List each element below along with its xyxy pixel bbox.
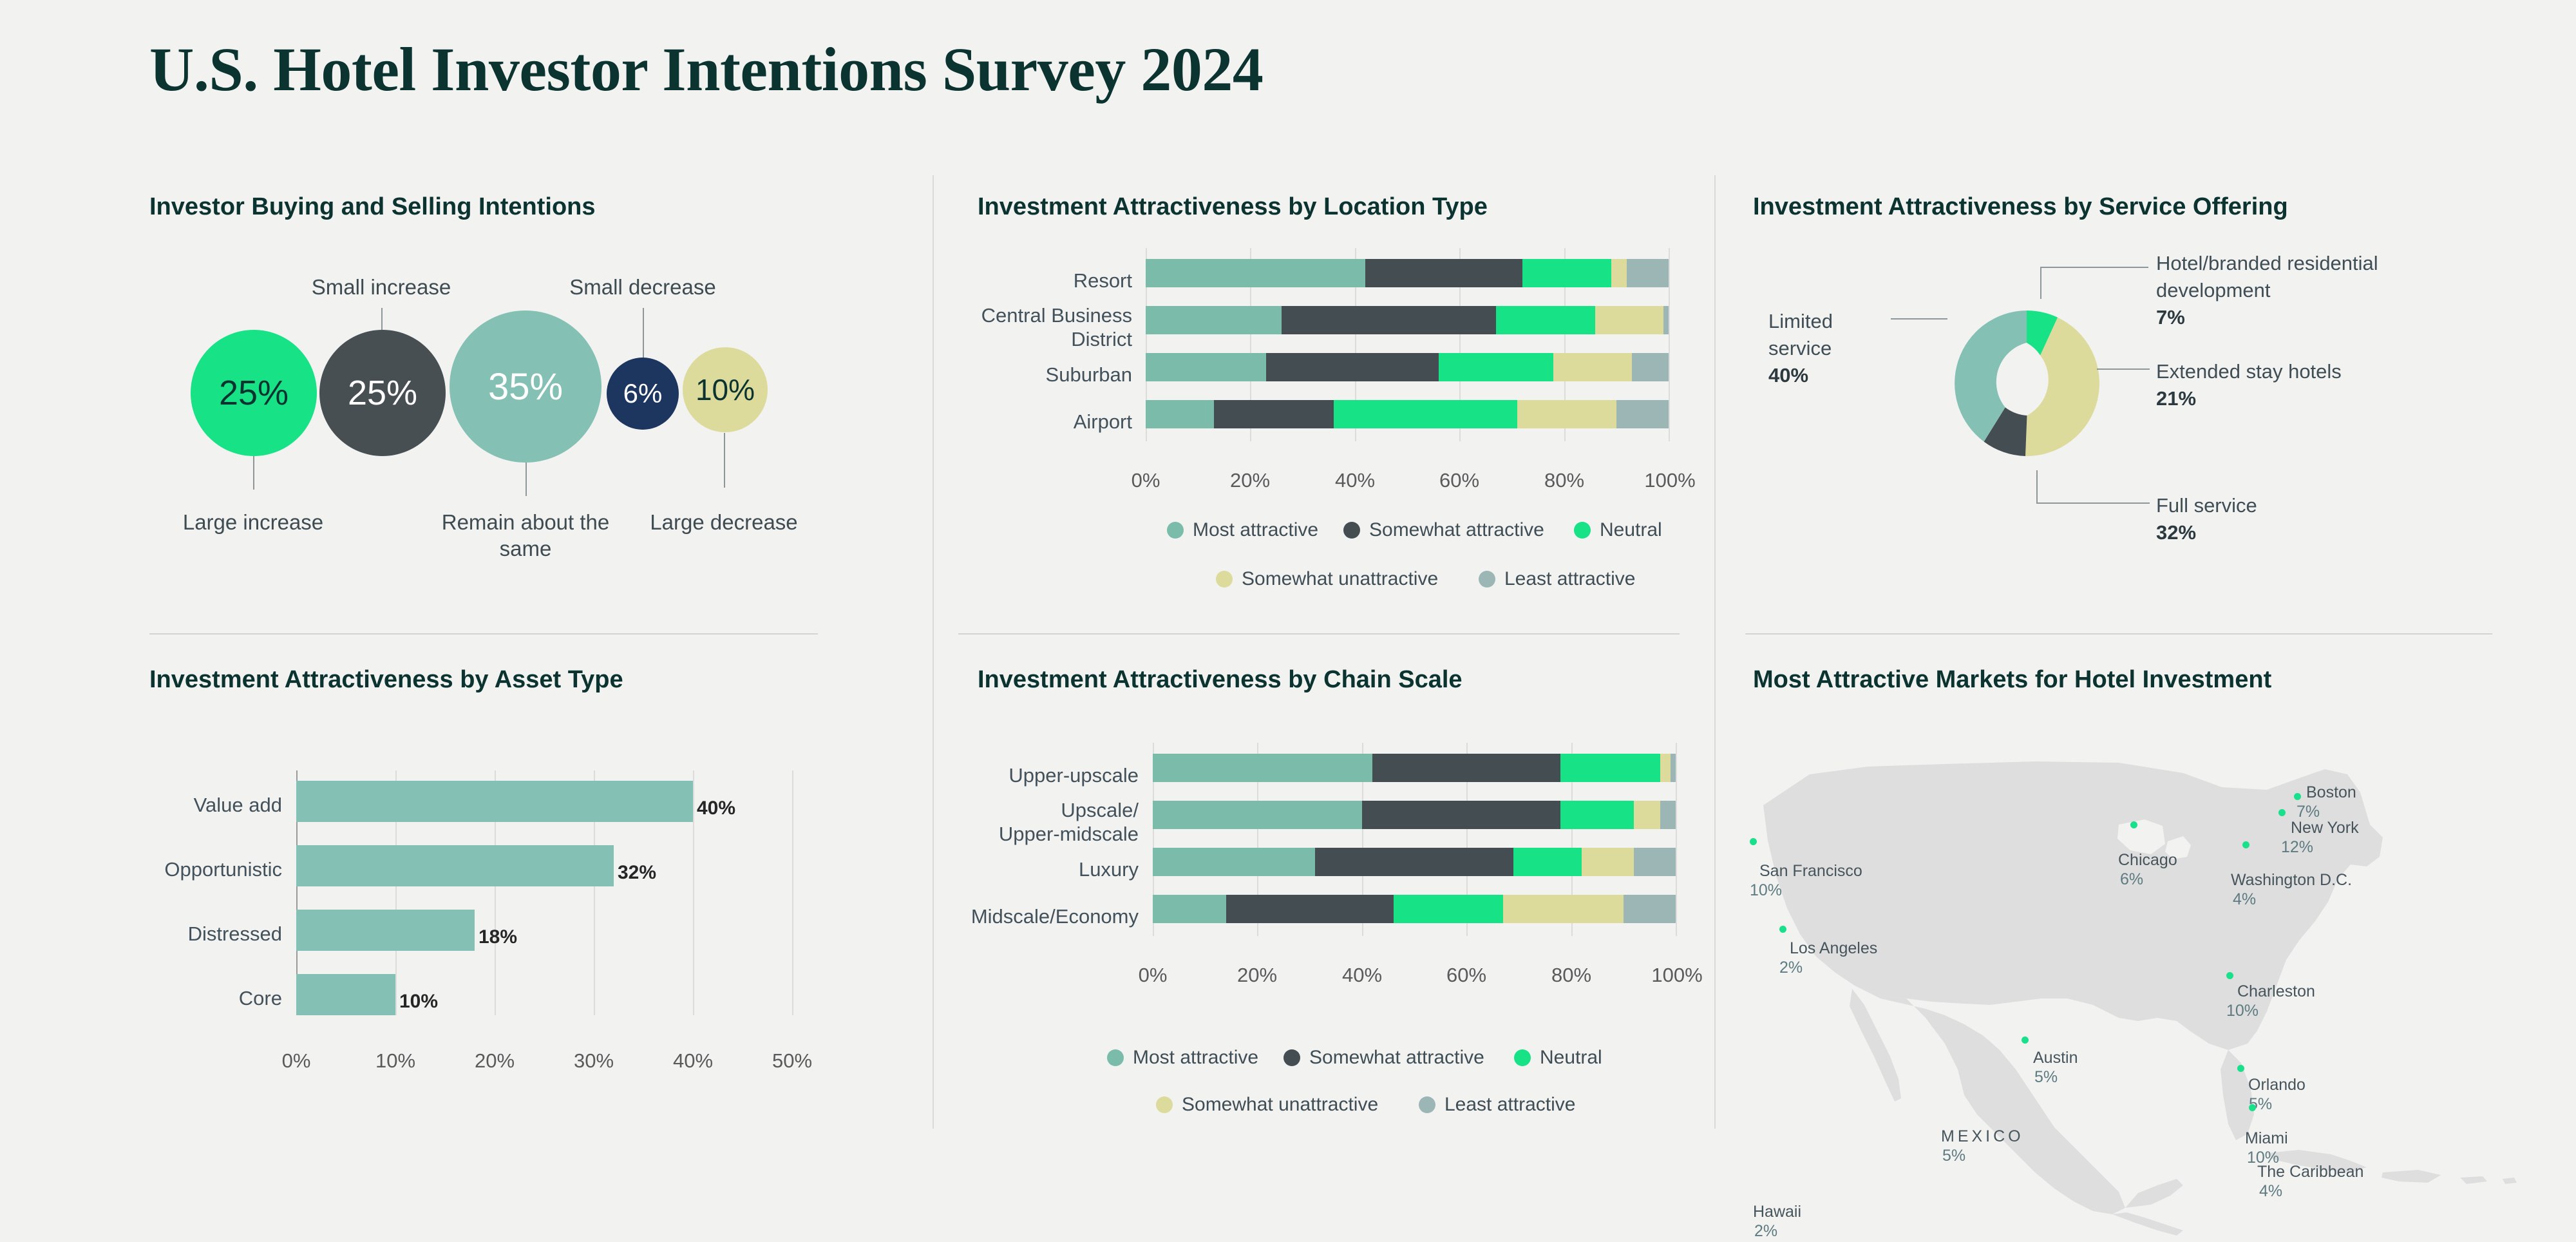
- gridline-100: [1669, 248, 1670, 441]
- legend-item-somewhat-unattractive[interactable]: Somewhat unattractive: [1156, 1094, 1378, 1116]
- bubble-small-increase[interactable]: 25%: [319, 330, 446, 456]
- table-row[interactable]: [1153, 801, 1676, 829]
- legend-item-somewhat-unattractive[interactable]: Somewhat unattractive: [1216, 568, 1438, 590]
- xtick-30: 30%: [562, 1049, 626, 1073]
- map-label-hawaii: Hawaii: [1753, 1203, 1801, 1221]
- axis-label-luxury: Luxury: [953, 858, 1139, 882]
- axis-label-airport: Airport: [953, 410, 1132, 434]
- donut-label-extended-stay: Extended stay hotels 21%: [2156, 358, 2420, 412]
- bubble-large-decrease[interactable]: 10%: [683, 347, 768, 432]
- table-row[interactable]: [1153, 848, 1676, 876]
- segment-least-attractive: [1634, 848, 1676, 876]
- legend-label: Neutral: [1600, 519, 1662, 541]
- axis-label-cbd: Central Business District: [934, 304, 1132, 351]
- north-america-map-svg: [1732, 728, 2563, 1237]
- map-value-mexico: 5%: [1942, 1147, 1965, 1165]
- leader-hotel-branded: [2040, 267, 2041, 299]
- axis-label-value-add: Value add: [103, 794, 282, 817]
- axis-label-core: Core: [103, 987, 282, 1011]
- bubble-value: 10%: [696, 372, 755, 407]
- table-row[interactable]: [296, 845, 614, 886]
- segment-most-attractive: [1146, 353, 1266, 381]
- column-divider-right: [1714, 175, 1716, 1129]
- donut-label-value: 21%: [2156, 387, 2196, 410]
- table-row[interactable]: [1146, 400, 1669, 428]
- legend-item-neutral[interactable]: Neutral: [1574, 519, 1662, 541]
- segment-neutral: [1513, 848, 1582, 876]
- segment-somewhat-attractive: [1226, 895, 1394, 923]
- segment-neutral: [1522, 259, 1611, 287]
- xtick-40: 40%: [1323, 469, 1387, 492]
- xtick-60: 60%: [1434, 964, 1499, 987]
- row-divider-col3: [1745, 633, 2492, 635]
- segment-somewhat-attractive: [1266, 353, 1439, 381]
- map-label-charleston: Charleston: [2237, 982, 2315, 1001]
- segment-least-attractive: [1671, 754, 1676, 782]
- panel-title-intentions: Investor Buying and Selling Intentions: [149, 193, 596, 221]
- axis-label-distressed: Distressed: [103, 922, 282, 946]
- map-label-orlando: Orlando: [2248, 1076, 2306, 1094]
- segment-neutral: [1560, 754, 1660, 782]
- map-label-chicago: Chicago: [2118, 851, 2177, 870]
- leader-large-decrease: [724, 433, 725, 488]
- bubble-label-large-increase: Large increase: [124, 509, 382, 535]
- map-label-san-francisco: San Francisco: [1759, 862, 1862, 881]
- donut-label-text: Extended stay hotels: [2156, 360, 2342, 383]
- segment-somewhat-attractive: [1315, 848, 1514, 876]
- panel-title-location: Investment Attractiveness by Location Ty…: [978, 193, 1488, 221]
- map-value-los-angeles: 2%: [1779, 959, 1803, 977]
- segment-least-attractive: [1616, 400, 1669, 428]
- bar-value-distressed: 18%: [478, 926, 517, 948]
- xtick-60: 60%: [1427, 469, 1492, 492]
- axis-label-resort: Resort: [953, 269, 1132, 293]
- axis-label-suburban: Suburban: [953, 363, 1132, 387]
- bar-value-core: 10%: [399, 991, 438, 1013]
- bubble-value: 25%: [219, 373, 289, 413]
- segment-neutral: [1394, 895, 1504, 923]
- xtick-40: 40%: [661, 1049, 725, 1073]
- bubble-label-small-increase: Small increase: [252, 274, 510, 300]
- map-dot-austin[interactable]: [2022, 1037, 2029, 1044]
- xtick-0: 0%: [264, 1049, 328, 1073]
- donut-label-text: Hotel/branded residential development: [2156, 252, 2378, 301]
- segment-somewhat-unattractive: [1503, 895, 1624, 923]
- legend-dot-icon: [1574, 522, 1591, 539]
- legend-dot-icon: [1479, 571, 1495, 588]
- xtick-50: 50%: [760, 1049, 824, 1073]
- segment-neutral: [1560, 801, 1634, 829]
- segment-somewhat-attractive: [1214, 400, 1334, 428]
- segment-neutral: [1439, 353, 1554, 381]
- markets-map: [1732, 728, 2563, 1237]
- map-value-chicago: 6%: [2120, 870, 2143, 889]
- segment-most-attractive: [1146, 259, 1365, 287]
- panel-title-asset: Investment Attractiveness by Asset Type: [149, 666, 623, 694]
- map-dot-san-francisco[interactable]: [1750, 838, 1757, 845]
- map-label-washington-dc: Washington D.C.: [2231, 871, 2352, 890]
- map-label-boston: Boston: [2306, 783, 2356, 802]
- donut-svg: [1954, 310, 2099, 456]
- map-label-austin: Austin: [2033, 1049, 2078, 1067]
- row-divider-col1: [149, 633, 818, 635]
- map-label-miami: Miami: [2245, 1129, 2288, 1148]
- legend-dot-icon: [1107, 1049, 1124, 1066]
- map-label-los-angeles: Los Angeles: [1790, 939, 1877, 958]
- page-title: U.S. Hotel Investor Intentions Survey 20…: [149, 33, 1263, 105]
- axis-label-opportunistic: Opportunistic: [103, 858, 282, 882]
- xtick-20: 20%: [462, 1049, 527, 1073]
- legend-item-most-attractive[interactable]: Most attractive: [1107, 1047, 1258, 1069]
- map-value-hawaii: 2%: [1754, 1222, 1777, 1241]
- xtick-40: 40%: [1330, 964, 1394, 987]
- xtick-20: 20%: [1218, 469, 1282, 492]
- segment-somewhat-unattractive: [1595, 306, 1663, 334]
- segment-somewhat-attractive: [1372, 754, 1560, 782]
- map-dot-washington-dc[interactable]: [2242, 841, 2249, 848]
- map-dot-boston[interactable]: [2294, 793, 2301, 800]
- table-row[interactable]: [1153, 754, 1676, 782]
- legend-label: Least attractive: [1444, 1094, 1575, 1116]
- segment-somewhat-unattractive: [1517, 400, 1616, 428]
- legend-item-least-attractive[interactable]: Least attractive: [1419, 1094, 1575, 1116]
- map-value-charleston: 10%: [2226, 1002, 2259, 1020]
- location-chart: [1146, 248, 1669, 451]
- segment-neutral: [1334, 400, 1517, 428]
- map-value-washington-dc: 4%: [2233, 890, 2256, 909]
- legend-label: Somewhat attractive: [1369, 519, 1544, 541]
- legend-dot-icon: [1343, 522, 1360, 539]
- map-value-new-york: 12%: [2281, 838, 2313, 857]
- xtick-100: 100%: [1634, 469, 1705, 492]
- segment-least-attractive: [1660, 801, 1676, 829]
- legend-label: Somewhat unattractive: [1182, 1094, 1378, 1116]
- table-row[interactable]: [296, 781, 693, 822]
- map-dot-orlando[interactable]: [2237, 1065, 2244, 1072]
- legend-dot-icon: [1156, 1096, 1173, 1113]
- bar-value-value-add: 40%: [697, 798, 735, 819]
- donut-label-hotel-branded: Hotel/branded residential development 7%: [2156, 250, 2420, 331]
- bubble-large-increase[interactable]: 25%: [191, 330, 317, 456]
- segment-somewhat-unattractive: [1582, 848, 1634, 876]
- leader-full-service: [2036, 470, 2038, 502]
- map-dot-chicago[interactable]: [2130, 821, 2137, 828]
- gridline-100: [1676, 743, 1677, 936]
- legend-dot-icon: [1283, 1049, 1300, 1066]
- segment-most-attractive: [1153, 848, 1315, 876]
- legend-item-least-attractive[interactable]: Least attractive: [1479, 568, 1635, 590]
- axis-label-text: Central Business District: [981, 304, 1132, 350]
- xtick-80: 80%: [1539, 964, 1604, 987]
- axis-label-upscale-upper-midscale: Upscale/ Upper-midscale: [927, 799, 1139, 846]
- xtick-100: 100%: [1642, 964, 1712, 987]
- segment-somewhat-attractive: [1362, 801, 1561, 829]
- donut-label-value: 7%: [2156, 306, 2185, 329]
- bubble-value: 6%: [623, 378, 663, 409]
- axis-label-midscale-economy: Midscale/Economy: [927, 905, 1139, 929]
- xtick-0: 0%: [1113, 469, 1178, 492]
- segment-somewhat-unattractive: [1611, 259, 1627, 287]
- segment-somewhat-unattractive: [1660, 754, 1671, 782]
- segment-somewhat-unattractive: [1634, 801, 1660, 829]
- segment-least-attractive: [1632, 353, 1669, 381]
- panel-title-chain: Investment Attractiveness by Chain Scale: [978, 666, 1463, 694]
- donut-label-text: Limited service: [1768, 310, 1833, 359]
- map-value-the-caribbean: 4%: [2259, 1182, 2282, 1201]
- legend-label: Somewhat attractive: [1309, 1047, 1484, 1069]
- bubble-remain-same[interactable]: 35%: [450, 310, 601, 463]
- chain-chart: [1153, 743, 1676, 946]
- legend-label: Neutral: [1540, 1047, 1602, 1069]
- bubble-label-remain-same: Remain about the same: [429, 509, 622, 562]
- segment-neutral: [1496, 306, 1595, 334]
- gridline-50: [792, 770, 793, 1015]
- segment-somewhat-attractive: [1282, 306, 1496, 334]
- map-value-san-francisco: 10%: [1750, 881, 1782, 900]
- segment-most-attractive: [1146, 400, 1214, 428]
- table-row[interactable]: [1146, 353, 1669, 381]
- bubble-small-decrease[interactable]: 6%: [607, 358, 679, 430]
- gridline-40: [693, 770, 694, 1015]
- map-dot-new-york[interactable]: [2278, 809, 2286, 816]
- leader-full-service-h: [2036, 502, 2150, 504]
- legend-item-most-attractive[interactable]: Most attractive: [1167, 519, 1318, 541]
- segment-most-attractive: [1146, 306, 1282, 334]
- xtick-0: 0%: [1121, 964, 1185, 987]
- legend-dot-icon: [1216, 571, 1233, 588]
- leader-extended-stay: [2097, 368, 2150, 370]
- segment-somewhat-attractive: [1365, 259, 1522, 287]
- row-divider-col2: [958, 633, 1680, 635]
- legend-item-neutral[interactable]: Neutral: [1514, 1047, 1602, 1069]
- xtick-80: 80%: [1532, 469, 1596, 492]
- segment-least-attractive: [1624, 895, 1676, 923]
- donut-label-value: 32%: [2156, 521, 2196, 544]
- segment-least-attractive: [1627, 259, 1669, 287]
- map-label-new-york: New York: [2291, 819, 2359, 837]
- leader-hotel-branded-h: [2040, 267, 2148, 268]
- legend-dot-icon: [1419, 1096, 1435, 1113]
- bubble-value: 25%: [348, 373, 417, 413]
- donut-label-full-service: Full service 32%: [2156, 492, 2420, 546]
- axis-label-line2: Upper-midscale: [999, 823, 1139, 845]
- xtick-10: 10%: [363, 1049, 428, 1073]
- legend-label: Most attractive: [1193, 519, 1318, 541]
- panel-title-markets: Most Attractive Markets for Hotel Invest…: [1753, 666, 2271, 694]
- bar-value-opportunistic: 32%: [618, 862, 656, 884]
- legend-dot-icon: [1514, 1049, 1531, 1066]
- map-dot-los-angeles[interactable]: [1779, 926, 1786, 933]
- donut-chart: [1954, 310, 2099, 456]
- map-label-mexico: MEXICO: [1941, 1127, 2024, 1146]
- segment-most-attractive: [1153, 895, 1226, 923]
- table-row[interactable]: [296, 974, 395, 1015]
- legend-label: Least attractive: [1504, 568, 1635, 590]
- panel-title-service: Investment Attractiveness by Service Off…: [1753, 193, 2288, 221]
- table-row[interactable]: [296, 910, 475, 951]
- xtick-20: 20%: [1225, 964, 1289, 987]
- map-value-austin: 5%: [2034, 1068, 2058, 1087]
- infographic-page: U.S. Hotel Investor Intentions Survey 20…: [0, 0, 2576, 1242]
- donut-label-limited-service: Limited service 40%: [1768, 308, 1897, 389]
- segment-somewhat-unattractive: [1553, 353, 1632, 381]
- legend-dot-icon: [1167, 522, 1184, 539]
- map-label-the-caribbean: The Caribbean: [2257, 1163, 2363, 1181]
- legend-item-somewhat-attractive[interactable]: Somewhat attractive: [1283, 1047, 1484, 1069]
- legend-label: Somewhat unattractive: [1242, 568, 1438, 590]
- map-dot-miami[interactable]: [2249, 1104, 2256, 1111]
- segment-most-attractive: [1153, 754, 1372, 782]
- map-dot-charleston[interactable]: [2226, 972, 2233, 979]
- bubble-label-text: Remain about the same: [442, 510, 610, 560]
- donut-label-text: Full service: [2156, 494, 2257, 517]
- leader-limited-service: [1891, 318, 1947, 320]
- segment-least-attractive: [1663, 306, 1669, 334]
- table-row[interactable]: [1146, 259, 1669, 287]
- donut-label-value: 40%: [1768, 364, 1808, 387]
- legend-item-somewhat-attractive[interactable]: Somewhat attractive: [1343, 519, 1544, 541]
- table-row[interactable]: [1146, 306, 1669, 334]
- bubble-value: 35%: [488, 365, 563, 408]
- axis-label-upper-upscale: Upper-upscale: [953, 764, 1139, 788]
- bubble-label-small-decrease: Small decrease: [514, 274, 772, 300]
- table-row[interactable]: [1153, 895, 1676, 923]
- segment-most-attractive: [1153, 801, 1362, 829]
- bubble-label-large-decrease: Large decrease: [595, 509, 853, 535]
- legend-label: Most attractive: [1133, 1047, 1258, 1069]
- axis-label-line1: Upscale/: [1061, 799, 1139, 821]
